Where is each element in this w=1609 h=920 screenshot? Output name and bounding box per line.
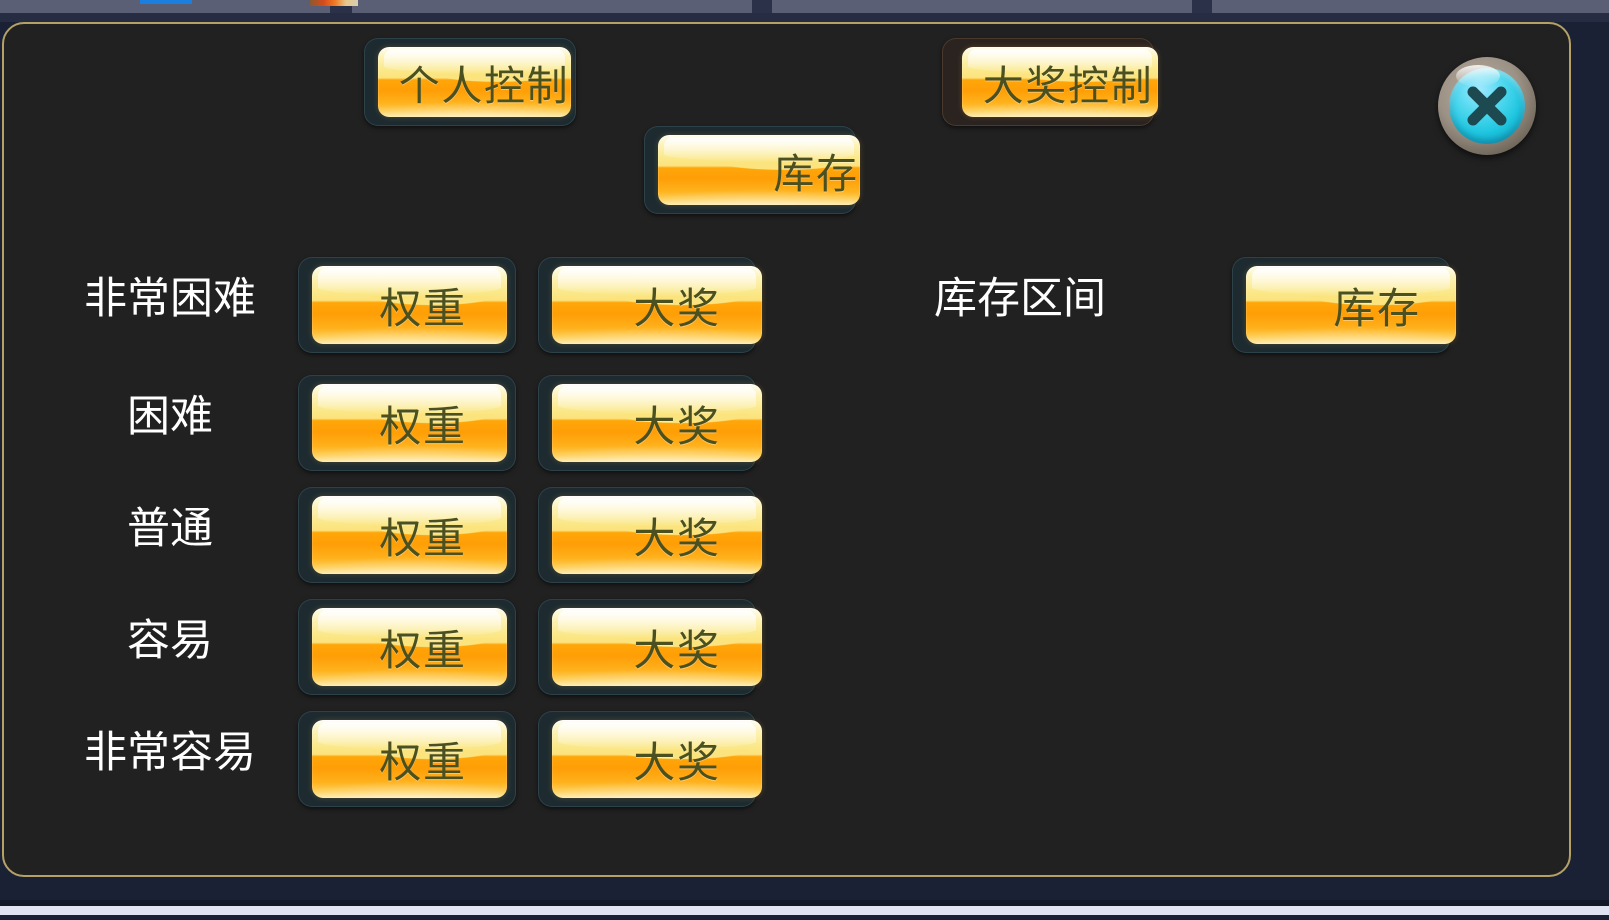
button-wave <box>312 414 507 428</box>
button-wave <box>312 750 507 764</box>
weight-button-very-hard[interactable]: 权重 <box>298 257 516 353</box>
jackpot-button-normal[interactable]: 大奖 <box>538 487 756 583</box>
inventory-tab-button[interactable]: 库存 <box>644 126 856 214</box>
row-label-very-easy: 非常容易 <box>60 732 280 775</box>
weight-button-normal[interactable]: 权重 <box>298 487 516 583</box>
jackpot-control-button[interactable]: 大奖控制 <box>942 38 1154 126</box>
bottom-taskbar-strip[interactable] <box>0 906 1609 915</box>
button-wave <box>378 74 571 87</box>
taskbar-lower-strip <box>0 13 1609 22</box>
row-label-easy: 容易 <box>70 620 270 663</box>
inventory-range-button[interactable]: 库存 <box>1232 257 1450 353</box>
button-wave <box>962 74 1158 87</box>
button-wave <box>658 162 860 175</box>
button-wave <box>552 414 762 428</box>
button-shine <box>558 610 755 637</box>
weight-button-very-easy[interactable]: 权重 <box>298 711 516 807</box>
button-shine <box>558 498 755 525</box>
button-face <box>658 135 860 205</box>
button-face <box>962 47 1158 117</box>
button-wave <box>312 638 507 652</box>
button-shine <box>318 386 501 413</box>
button-wave <box>552 296 762 310</box>
button-shine <box>384 49 565 73</box>
bottom-edge <box>0 915 1609 920</box>
button-shine <box>318 268 501 295</box>
weight-button-easy[interactable]: 权重 <box>298 599 516 695</box>
personal-control-button[interactable]: 个人控制 <box>364 38 576 126</box>
close-x-icon <box>1449 68 1525 144</box>
button-face <box>378 47 571 117</box>
button-shine <box>318 722 501 749</box>
button-wave <box>552 750 762 764</box>
close-button[interactable] <box>1438 57 1536 155</box>
taskbar-active-tab-indicator <box>140 0 192 4</box>
button-face <box>552 608 762 686</box>
jackpot-button-hard[interactable]: 大奖 <box>538 375 756 471</box>
inventory-range-label: 库存区间 <box>934 278 1106 321</box>
button-face <box>312 496 507 574</box>
jackpot-button-very-easy[interactable]: 大奖 <box>538 711 756 807</box>
button-face <box>552 266 762 344</box>
button-face <box>1246 266 1456 344</box>
row-label-normal: 普通 <box>70 508 270 551</box>
button-shine <box>318 610 501 637</box>
button-wave <box>552 526 762 540</box>
button-face <box>312 608 507 686</box>
button-face <box>312 720 507 798</box>
button-shine <box>968 49 1152 73</box>
weight-button-hard[interactable]: 权重 <box>298 375 516 471</box>
button-wave <box>312 296 507 310</box>
button-face <box>552 496 762 574</box>
row-label-hard: 困难 <box>70 396 270 439</box>
button-shine <box>558 268 755 295</box>
button-wave <box>1246 296 1456 310</box>
button-face <box>552 384 762 462</box>
taskbar-app-icon[interactable] <box>310 0 358 6</box>
control-panel: 个人控制 大奖控制 库存 <box>2 22 1571 877</box>
button-shine <box>1252 268 1449 295</box>
button-shine <box>558 386 755 413</box>
button-face <box>312 384 507 462</box>
button-shine <box>664 137 854 161</box>
taskbar-segment-right[interactable] <box>772 0 1192 13</box>
row-label-very-hard: 非常困难 <box>70 278 270 321</box>
button-face <box>312 266 507 344</box>
button-face <box>552 720 762 798</box>
taskbar-segment-far-right[interactable] <box>1212 0 1609 13</box>
button-wave <box>312 526 507 540</box>
button-wave <box>552 638 762 652</box>
jackpot-button-very-hard[interactable]: 大奖 <box>538 257 756 353</box>
button-shine <box>318 498 501 525</box>
button-shine <box>558 722 755 749</box>
jackpot-button-easy[interactable]: 大奖 <box>538 599 756 695</box>
screen: 个人控制 大奖控制 库存 <box>0 0 1609 920</box>
panel-right-gutter <box>1573 22 1609 877</box>
taskbar-segment-mid[interactable] <box>352 0 752 13</box>
